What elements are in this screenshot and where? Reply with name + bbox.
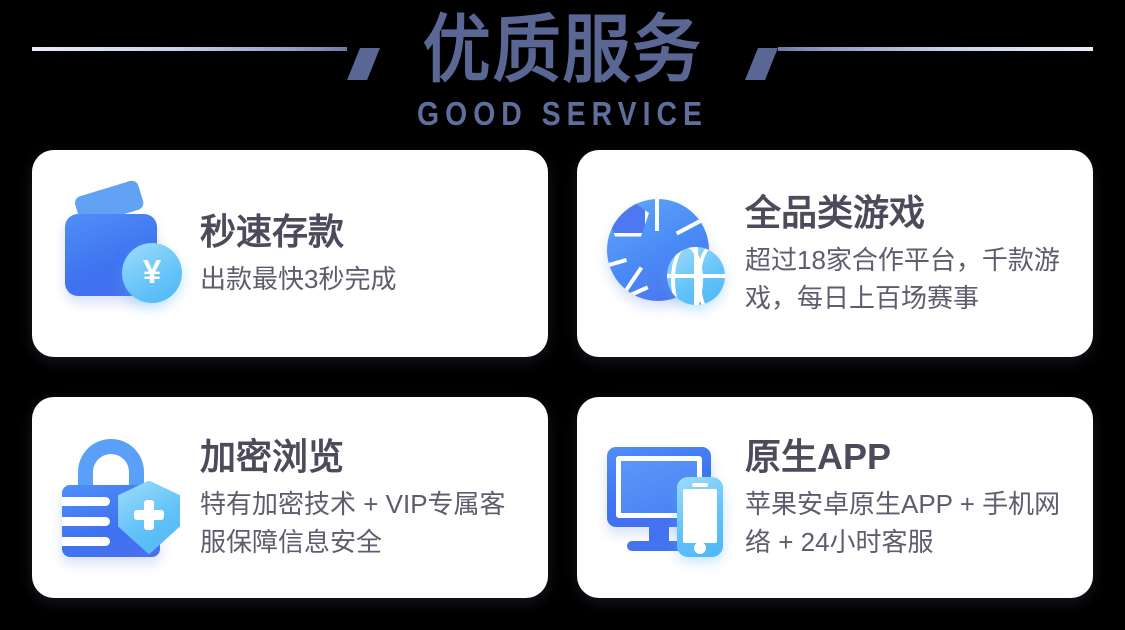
basketball-icon (667, 247, 725, 305)
service-card-text: 全品类游戏 超过18家合作平台，千款游戏，每日上百场赛事 (735, 191, 1075, 317)
service-card-desc: 苹果安卓原生APP + 手机网络 + 24小时客服 (745, 485, 1075, 561)
service-card-desc: 出款最快3秒完成 (200, 260, 530, 298)
service-card-text: 原生APP 苹果安卓原生APP + 手机网络 + 24小时客服 (735, 435, 1075, 561)
service-card-games[interactable]: 全品类游戏 超过18家合作平台，千款游戏，每日上百场赛事 (577, 150, 1093, 357)
monitor-stand (649, 525, 669, 543)
lock-shield-icon (60, 433, 190, 563)
service-card-deposit[interactable]: ¥ 秒速存款 出款最快3秒完成 (32, 150, 548, 357)
service-card-text: 加密浏览 特有加密技术 + VIP专属客服保障信息安全 (190, 435, 530, 561)
service-card-desc: 超过18家合作平台，千款游戏，每日上百场赛事 (745, 241, 1075, 317)
page-title-en: GOOD SERVICE (79, 96, 1047, 132)
service-card-encryption[interactable]: 加密浏览 特有加密技术 + VIP专属客服保障信息安全 (32, 397, 548, 598)
service-card-desc: 特有加密技术 + VIP专属客服保障信息安全 (200, 485, 530, 561)
page-title-cn: 优质服务 (45, 0, 1080, 96)
service-card-title: 秒速存款 (200, 210, 530, 254)
service-card-title: 原生APP (745, 435, 1075, 479)
monitor-phone-icon (605, 433, 735, 563)
header-title-block: 优质服务 GOOD SERVICE (0, 0, 1125, 132)
page-header: 优质服务 GOOD SERVICE (0, 0, 1125, 140)
service-card-grid: ¥ 秒速存款 出款最快3秒完成 (32, 150, 1093, 598)
soccer-pentagon (607, 199, 649, 237)
service-card-text: 秒速存款 出款最快3秒完成 (190, 210, 530, 298)
yen-coin-icon: ¥ (122, 243, 182, 303)
phone-icon (677, 477, 723, 557)
service-card-title: 加密浏览 (200, 435, 530, 479)
yen-symbol: ¥ (143, 255, 161, 288)
service-card-native-app[interactable]: 原生APP 苹果安卓原生APP + 手机网络 + 24小时客服 (577, 397, 1093, 598)
sports-balls-icon (605, 189, 735, 319)
wallet-icon: ¥ (60, 189, 190, 319)
cross-icon (134, 500, 164, 530)
service-card-title: 全品类游戏 (745, 191, 1075, 235)
